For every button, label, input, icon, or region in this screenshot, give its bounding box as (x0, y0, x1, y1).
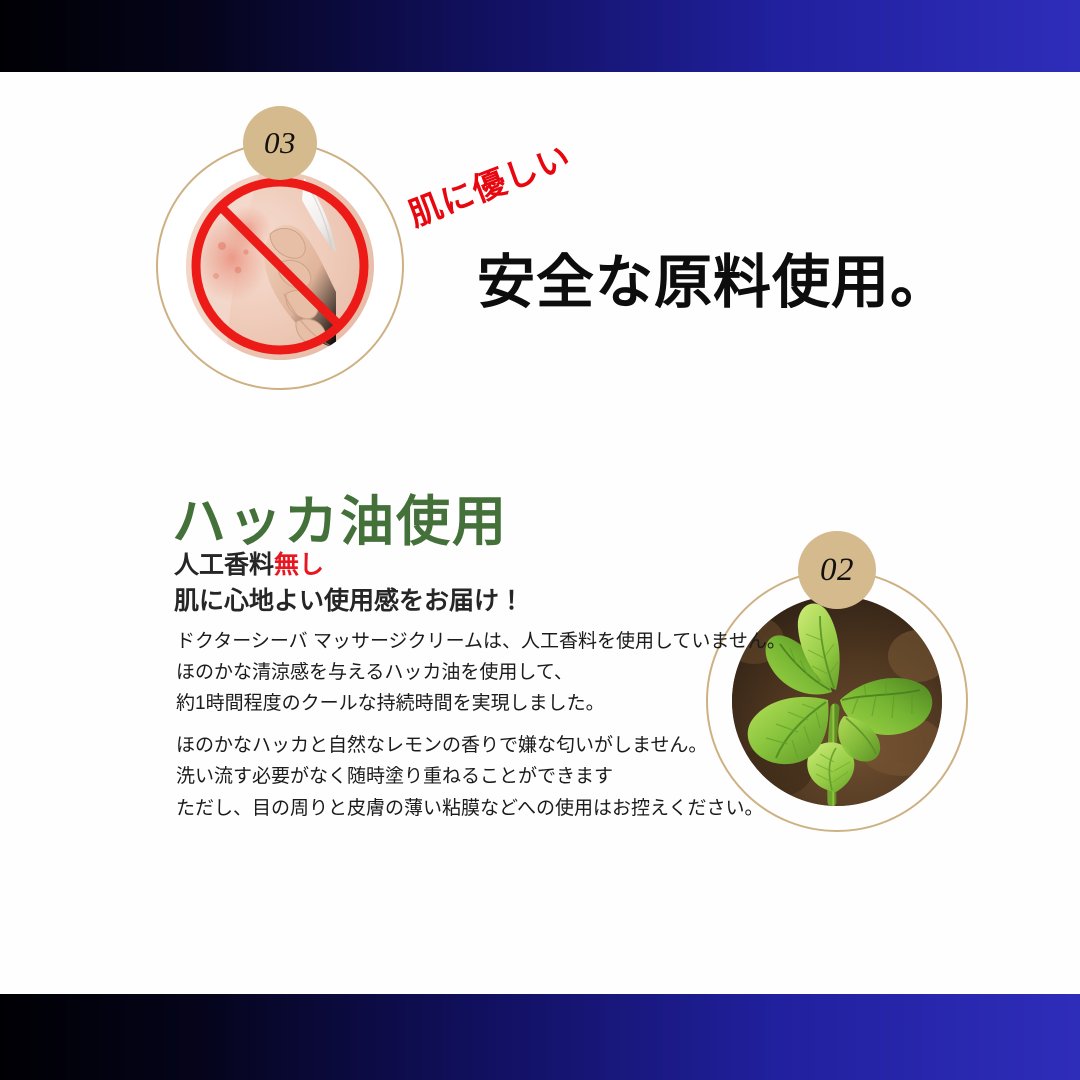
bottom-gradient-bar (0, 994, 1080, 1080)
body-paragraph-2: ほのかなハッカと自然なレモンの香りで嫌な匂いがしません。洗い流す必要がなく随時塗… (176, 731, 707, 793)
top-gradient-bar (0, 0, 1080, 72)
badge-03: 03 (243, 106, 317, 180)
infographic-page: 03 肌に優しい 安全な原料使用。 ハッカ油使用 人工香料無し 肌に心地よい使用… (0, 0, 1080, 1080)
badge-03-number: 03 (264, 125, 296, 161)
body-paragraph-3: ただし、目の周りと皮膚の薄い粘膜などへの使用はお控えください。 (176, 794, 763, 825)
irritated-skin-photo (186, 172, 374, 360)
badge-02-number: 02 (820, 552, 854, 589)
body-paragraph-1: ドクターシーバ マッサージクリームは、人工香料を使用していません。ほのかな清涼感… (176, 627, 786, 720)
headline-kicker: 肌に優しい (401, 130, 577, 236)
no-entry-slash-icon (186, 172, 374, 360)
lead-line-1-highlight: 無し (274, 551, 324, 579)
lead-line-2: 肌に心地よい使用感をお届け！ (174, 587, 524, 615)
badge-02: 02 (798, 531, 876, 609)
section-heading-hakka: ハッカ油使用 (172, 477, 508, 556)
lead-line-1-prefix: 人工香料 (174, 551, 274, 579)
section-03-circle: 03 (156, 142, 404, 390)
lead-text: 人工香料無し 肌に心地よい使用感をお届け！ (174, 548, 524, 619)
page-title: 安全な原料使用。 (477, 235, 949, 319)
